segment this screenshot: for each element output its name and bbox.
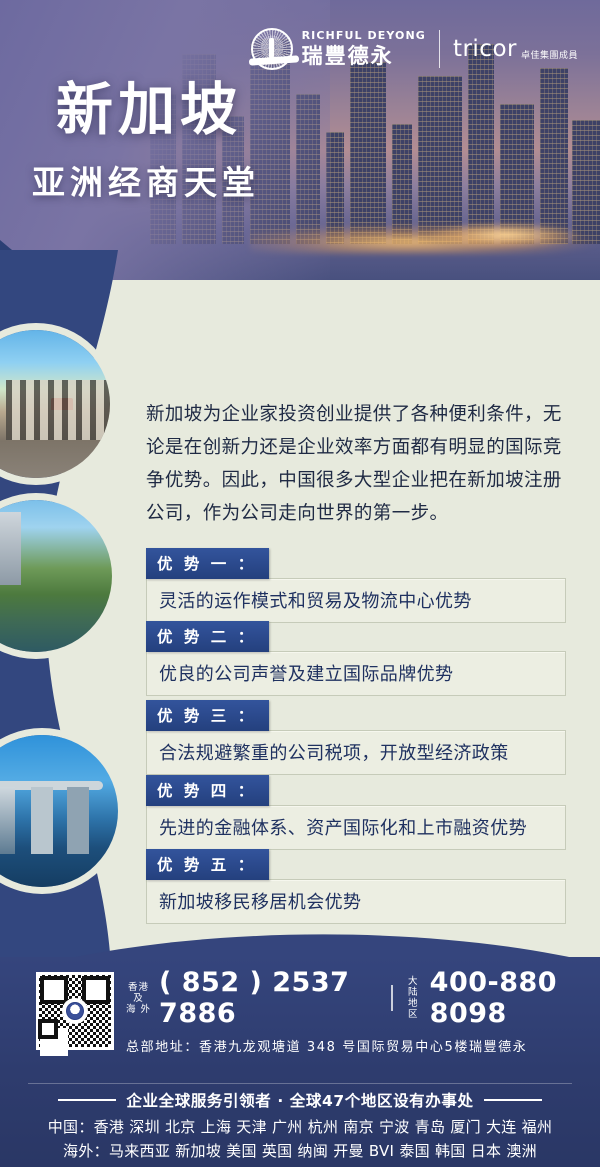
advantage-item-3: 优 势 三 ： 合法规避繁重的公司税项，开放型经济政策 [146,700,566,775]
advantage-text: 优良的公司声誉及建立国际品牌优势 [146,651,566,696]
tagline-rule-left [58,1099,116,1101]
advantage-badge: 优 势 五 ： [146,849,269,880]
advantage-badge: 优 势 二 ： [146,621,269,652]
page-subtitle: 亚洲经商天堂 [32,166,260,199]
hk-phone-number[interactable]: ( 852 ) 2537 7886 [159,967,379,1029]
footer-tagline: 企业全球服务引领者 · 全球47个地区设有办事处 [0,1089,600,1111]
advantage-badge: 优 势 三 ： [146,700,269,731]
tagline-rule-right [484,1099,542,1101]
advantage-item-4: 优 势 四 ： 先进的金融体系、资产国际化和上市融资优势 [146,775,566,850]
building [540,68,568,244]
qr-code-icon[interactable] [36,972,114,1050]
partner-logo-subtitle: 卓佳集團成員 [521,48,578,61]
regions-china: 中国：香港 深圳 北京 上海 天津 广州 杭州 南京 宁波 青岛 厦门 大连 福… [0,1116,600,1137]
building [418,76,462,244]
shophouse-street-photo [0,330,110,478]
advantage-text: 新加坡移民移居机会优势 [146,879,566,924]
page-title: 新加坡 [56,82,242,139]
tagline-text: 企业全球服务引领者 · 全球47个地区设有办事处 [126,1089,473,1111]
phone-divider [391,985,393,1011]
hk-phone-label: 香港及 海 外 [126,982,151,1015]
advantage-text: 灵活的运作模式和贸易及物流中心优势 [146,578,566,623]
marina-bay-sands-photo [0,735,118,887]
advantage-item-2: 优 势 二 ： 优良的公司声誉及建立国际品牌优势 [146,621,566,696]
building [350,62,386,244]
logo-english-name: RICHFUL DEYONG [302,30,426,41]
regions-overseas: 海外：马来西亚 新加坡 美国 英国 纳闽 开曼 BVI 泰国 韩国 日本 澳洲 [0,1140,600,1161]
advantage-item-5: 优 势 五 ： 新加坡移民移居机会优势 [146,849,566,924]
poster-root: RICHFUL DEYONG 瑞豐德永 tricor 卓佳集團成員 新加坡 亚洲… [0,0,600,1167]
cn-phone-number[interactable]: 400-880 8098 [430,967,600,1029]
advantage-text: 先进的金融体系、资产国际化和上市融资优势 [146,805,566,850]
advantage-text: 合法规避繁重的公司税项，开放型经济政策 [146,730,566,775]
footer: 香港及 海 外 ( 852 ) 2537 7886 大陆 地区 400-880 … [0,957,600,1167]
building [468,44,494,244]
brand-logo: RICHFUL DEYONG 瑞豐德永 tricor 卓佳集團成員 [251,28,578,70]
advantage-item-1: 优 势 一 ： 灵活的运作模式和贸易及物流中心优势 [146,548,566,623]
partner-logo-tricor: tricor [453,38,517,61]
logo-divider [439,30,440,68]
fullerton-glow [430,222,580,248]
intro-paragraph: 新加坡为企业家投资创业提供了各种便利条件，无论是在创新力还是企业效率方面都有明显… [146,398,564,530]
park-waterfront-photo [0,500,112,652]
contact-block: 香港及 海 外 ( 852 ) 2537 7886 大陆 地区 400-880 … [36,967,600,1055]
head-office-address: 总部地址：香港九龙观塘道 348 号国际贸易中心5楼瑞豐德永 [126,1036,600,1055]
logo-chinese-name: 瑞豐德永 [302,44,426,68]
advantage-badge: 优 势 一 ： [146,548,269,579]
cn-phone-label: 大陆 地区 [405,976,422,1020]
advantage-badge: 优 势 四 ： [146,775,269,806]
footer-divider [28,1083,572,1084]
richful-crest-icon [251,28,293,70]
